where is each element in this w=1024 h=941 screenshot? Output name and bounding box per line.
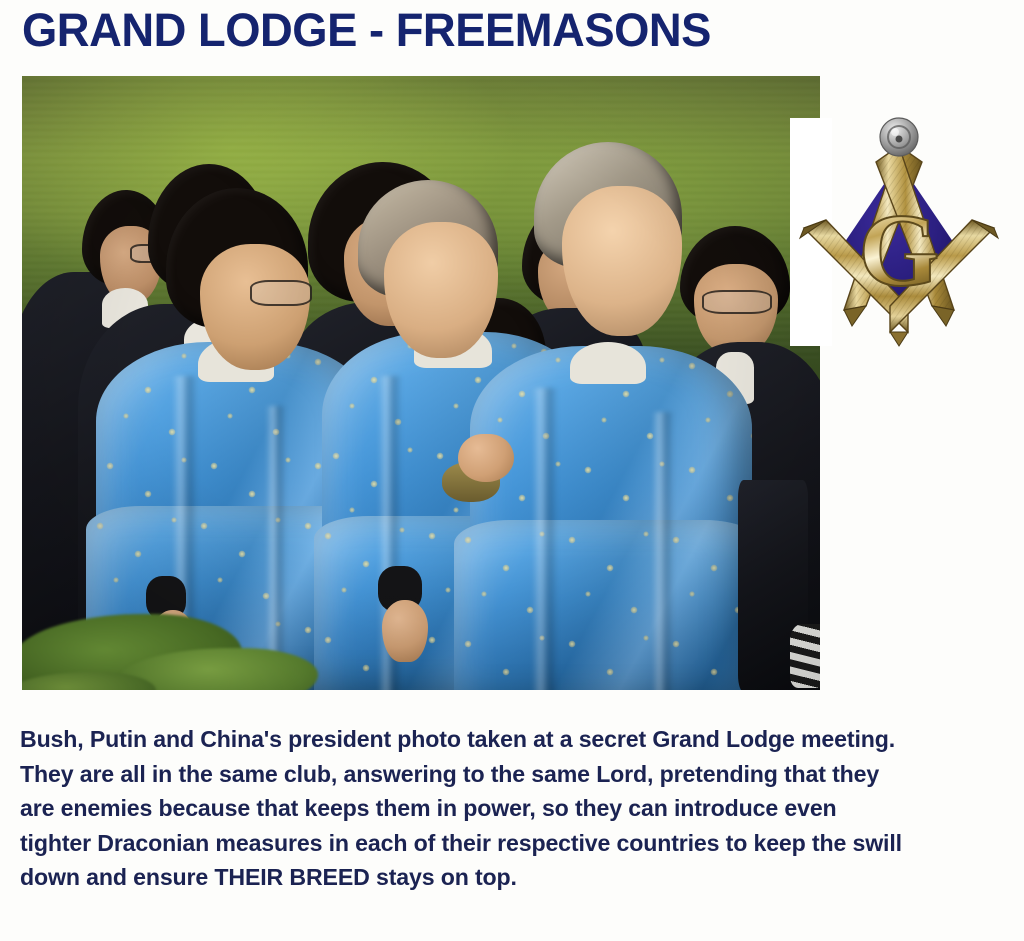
photograph — [22, 76, 820, 690]
caption-line: tighter Draconian measures in each of th… — [20, 826, 995, 861]
compass-hinge-knot — [880, 118, 918, 156]
caption-line: are enemies because that keeps them in p… — [20, 791, 995, 826]
square-and-compasses-icon: G — [796, 110, 1002, 360]
page-title: GRAND LODGE - FREEMASONS — [22, 2, 891, 60]
caption-line: They are all in the same club, answering… — [20, 757, 995, 792]
emblem-letter-g: G — [859, 193, 940, 308]
photo-vignette — [22, 76, 820, 690]
caption-line: Bush, Putin and China's president photo … — [20, 722, 995, 757]
caption-line: down and ensure THEIR BREED stays on top… — [20, 860, 995, 895]
caption-block: Bush, Putin and China's president photo … — [20, 722, 1010, 895]
